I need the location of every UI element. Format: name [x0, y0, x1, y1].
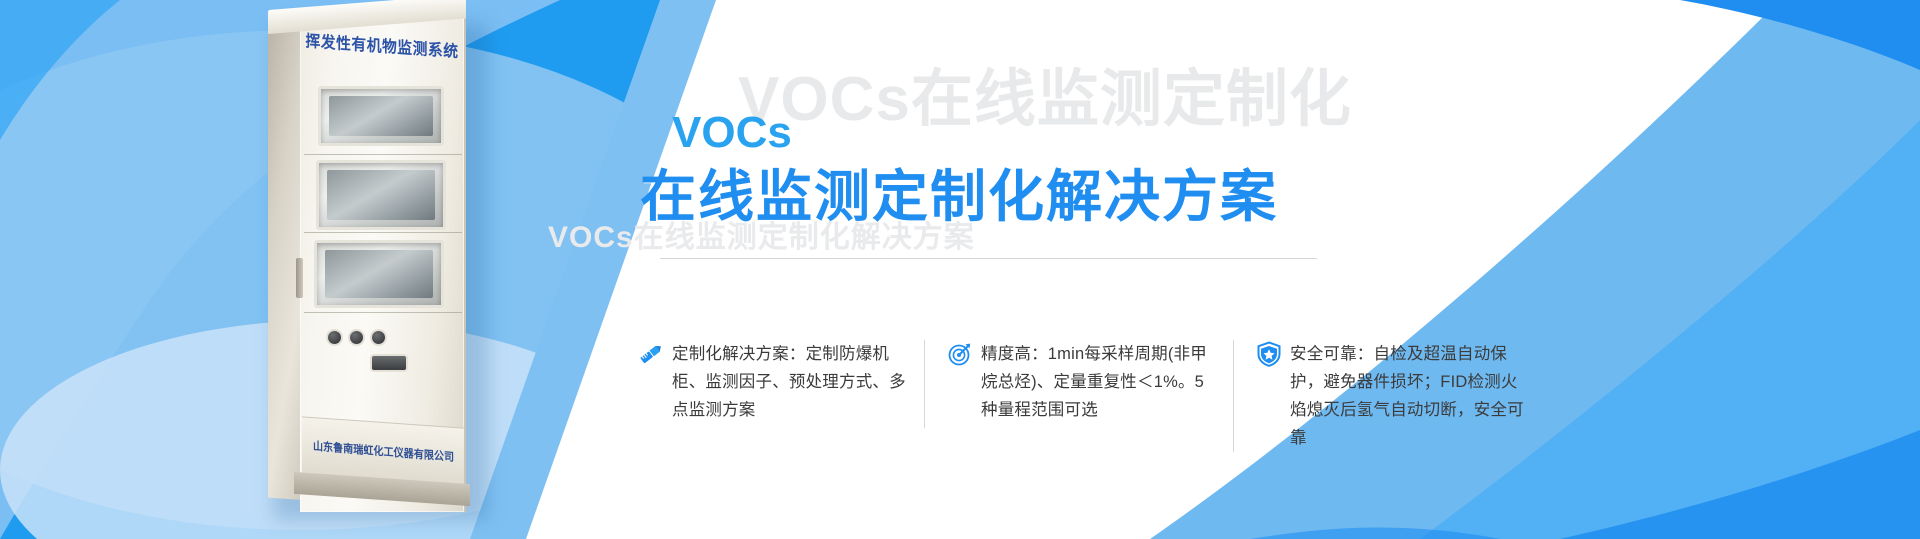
feature-text: 安全可靠：自检及超温自动保护，避免器件损坏；FID检测火焰熄灭后氢气自动切断，安… [1290, 340, 1528, 452]
target-arrow-icon [947, 341, 973, 367]
promo-banner: 挥发性有机物监测系统 山东鲁南瑞虹化工仪器有限公司 VOCs在线监测定制化 [0, 0, 1920, 539]
feature-item-customization: 定制化解决方案：定制防爆机柜、监测因子、预处理方式、多点监测方案 [638, 340, 924, 424]
banner-content: VOCs在线监测定制化 VOCs 在线监测定制化解决方案 VOCs在线监测定制化… [0, 0, 1920, 539]
ruler-pencil-icon [638, 341, 664, 367]
headline-english: VOCs [672, 108, 792, 158]
feature-item-accuracy: 精度高：1min每采样周期(非甲烷总烃)、定量重复性＜1%。5种量程范围可选 [924, 340, 1233, 428]
ghost-headline-bottom: VOCs在线监测定制化解决方案 [548, 212, 975, 256]
feature-list: 定制化解决方案：定制防爆机柜、监测因子、预处理方式、多点监测方案 精度高：1mi… [638, 340, 1542, 452]
feature-text: 定制化解决方案：定制防爆机柜、监测因子、预处理方式、多点监测方案 [672, 340, 910, 424]
headline-divider [660, 258, 1317, 259]
feature-item-safety: 安全可靠：自检及超温自动保护，避免器件损坏；FID检测火焰熄灭后氢气自动切断，安… [1233, 340, 1542, 452]
ghost-headline-top: VOCs在线监测定制化 [738, 48, 1352, 138]
shield-star-icon [1256, 341, 1282, 367]
feature-text: 精度高：1min每采样周期(非甲烷总烃)、定量重复性＜1%。5种量程范围可选 [981, 340, 1219, 424]
